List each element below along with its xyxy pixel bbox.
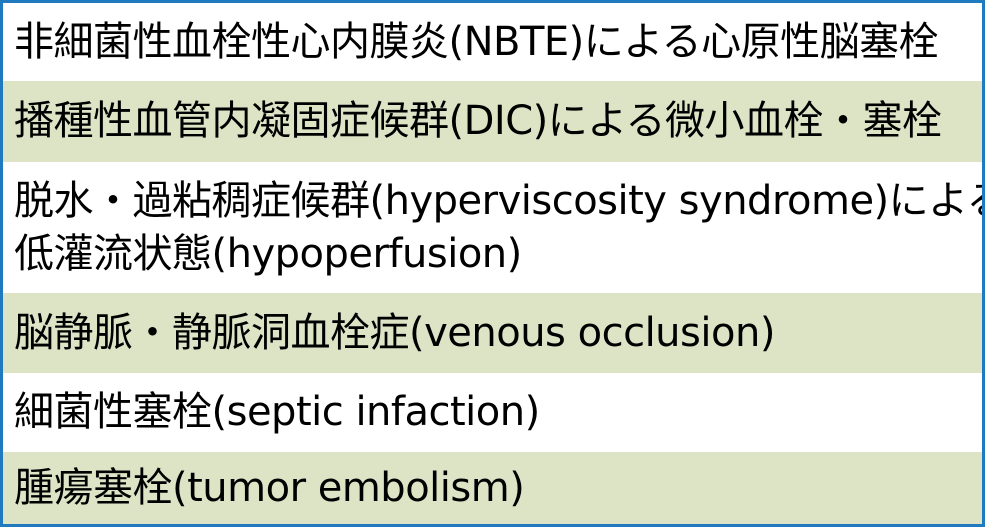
table-row: 非細菌性血栓性心内膜炎(NBTE)による心原性脳塞栓 <box>3 3 982 81</box>
table-cell-text: 脱水・過粘稠症候群(hyperviscosity syndrome)による <box>14 176 974 227</box>
table-cell-text: 脳静脈・静脈洞血栓症(venous occlusion) <box>14 308 974 359</box>
causes-table: 非細菌性血栓性心内膜炎(NBTE)による心原性脳塞栓 播種性血管内凝固症候群(D… <box>0 0 985 527</box>
table-body: 非細菌性血栓性心内膜炎(NBTE)による心原性脳塞栓 播種性血管内凝固症候群(D… <box>3 3 982 524</box>
table-row: 脳静脈・静脈洞血栓症(venous occlusion) <box>3 293 982 373</box>
table-row: 播種性血管内凝固症候群(DIC)による微小血栓・塞栓 <box>3 81 982 162</box>
table-cell-text-continuation: 低灌流状態(hypoperfusion) <box>14 229 974 280</box>
table-cell-text: 非細菌性血栓性心内膜炎(NBTE)による心原性脳塞栓 <box>14 17 974 68</box>
table-cell-text: 播種性血管内凝固症候群(DIC)による微小血栓・塞栓 <box>14 96 974 147</box>
table-row: 腫瘍塞栓(tumor embolism) <box>3 452 982 524</box>
table-cell-text: 細菌性塞栓(septic infaction) <box>14 387 974 438</box>
table-row: 細菌性塞栓(septic infaction) <box>3 373 982 452</box>
table-row: 脱水・過粘稠症候群(hyperviscosity syndrome)による 低灌… <box>3 162 982 293</box>
table-cell-text: 腫瘍塞栓(tumor embolism) <box>14 463 974 514</box>
